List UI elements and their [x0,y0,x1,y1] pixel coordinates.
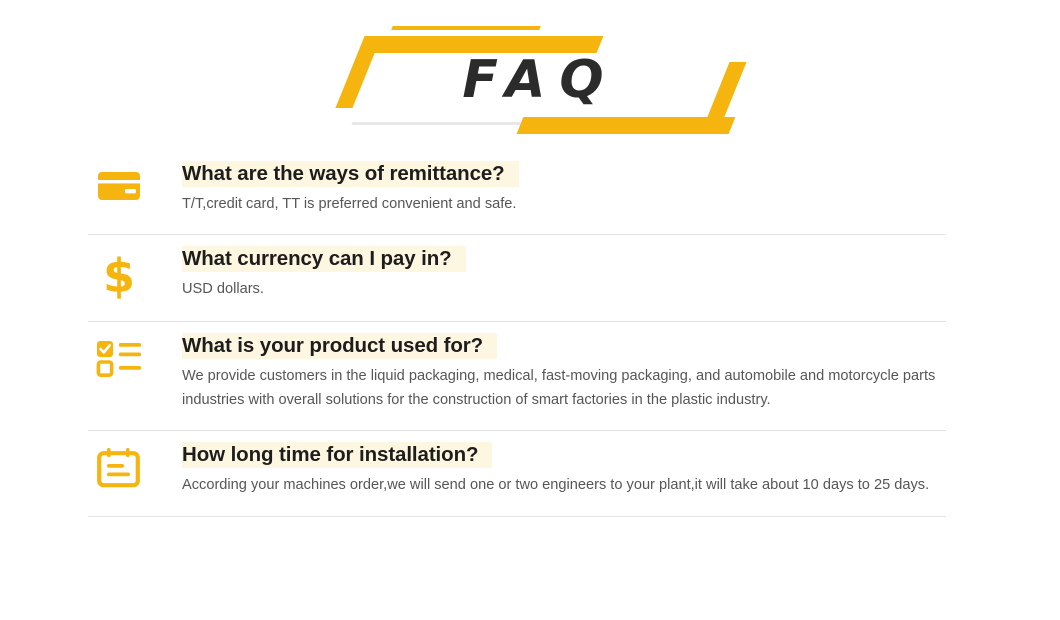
faq-question: How long time for installation? [182,442,492,468]
credit-card-icon [96,166,142,206]
faq-answer: According your machines order,we will se… [182,474,942,498]
faq-banner: FAQ [330,14,750,139]
svg-text:$: $ [103,251,135,303]
faq-list: What are the ways of remittance? T/T,cre… [88,150,946,517]
faq-question: What are the ways of remittance? [182,161,519,187]
banner-top-accent-line [391,26,541,30]
faq-answer: We provide customers in the liquid packa… [182,365,942,412]
faq-item-icon [88,439,182,491]
faq-answer: USD dollars. [182,278,942,302]
faq-answer: T/T,credit card, TT is preferred conveni… [182,193,942,217]
faq-item[interactable]: How long time for installation? Accordin… [88,431,946,516]
faq-item-text: What currency can I pay in? USD dollars. [182,243,946,301]
faq-item-text: What is your product used for? We provid… [182,330,946,412]
faq-item[interactable]: What is your product used for? We provid… [88,322,946,431]
faq-question: What currency can I pay in? [182,246,466,272]
checklist-icon [96,338,142,380]
faq-item[interactable]: $ What currency can I pay in? USD dollar… [88,235,946,322]
faq-item[interactable]: What are the ways of remittance? T/T,cre… [88,150,946,235]
faq-item-text: What are the ways of remittance? T/T,cre… [182,158,946,216]
faq-item-text: How long time for installation? Accordin… [182,439,946,497]
dollar-sign-icon: $ [96,251,142,303]
faq-page: FAQ What are the ways of remittance? T/T… [0,0,1060,620]
faq-question: What is your product used for? [182,333,497,359]
faq-item-icon [88,330,182,380]
faq-item-icon [88,158,182,206]
faq-item-icon: $ [88,243,182,303]
page-title: FAQ [330,54,750,106]
clipboard-icon [96,447,142,491]
